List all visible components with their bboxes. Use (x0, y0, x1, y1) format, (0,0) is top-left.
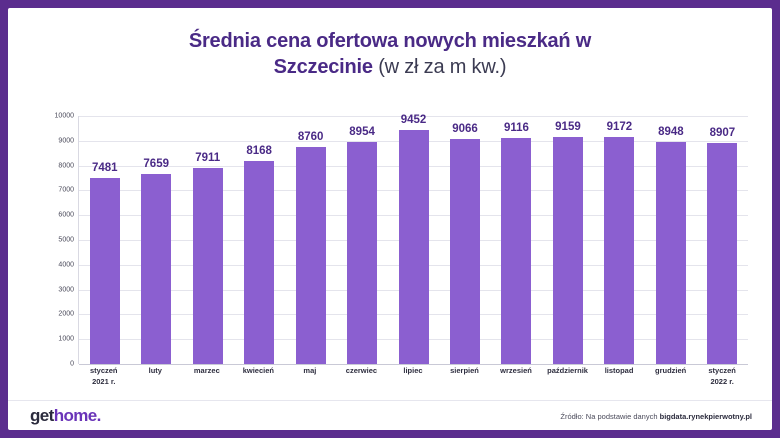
x-tick-label: maj (284, 366, 336, 388)
brand-dot: . (97, 406, 101, 425)
y-tick-9000: 9000 (38, 137, 74, 144)
bar-value-label: 9116 (491, 122, 542, 134)
y-tick-3000: 3000 (38, 286, 74, 293)
bar-slot: 7911 (182, 116, 233, 364)
bar-value-label: 9066 (439, 123, 490, 135)
source-note: Źródło: Na podstawie danych bigdata.ryne… (560, 412, 752, 421)
bar (193, 168, 223, 364)
bar-value-label: 8954 (336, 126, 387, 138)
brand-home: home (54, 406, 97, 425)
bar (244, 161, 274, 364)
bar (553, 137, 583, 364)
y-tick-7000: 7000 (38, 187, 74, 194)
y-tick-2000: 2000 (38, 311, 74, 318)
grid-area: 7481765979118168876089549452906691169159… (78, 116, 748, 364)
bar-slot: 8907 (697, 116, 748, 364)
brand-get: get (30, 406, 54, 425)
bar-slot: 8954 (336, 116, 387, 364)
bar-value-label: 7481 (79, 162, 130, 174)
gridline-0 (79, 364, 748, 365)
bar (450, 139, 480, 364)
footer-divider (8, 400, 772, 401)
bar-slot: 9066 (439, 116, 490, 364)
brand-logo: gethome. (30, 406, 101, 426)
y-tick-4000: 4000 (38, 261, 74, 268)
bar (90, 178, 120, 364)
bar-slot: 9172 (594, 116, 645, 364)
bar-slot: 9452 (388, 116, 439, 364)
bar (656, 142, 686, 364)
bar-value-label: 8907 (697, 127, 748, 139)
x-axis-tick-labels: styczeń2021 r.lutymarzeckwiecieńmajczerw… (78, 366, 748, 388)
bar-series: 7481765979118168876089549452906691169159… (79, 116, 748, 364)
bar-value-label: 8168 (233, 145, 284, 157)
source-name: bigdata.rynekpierwotny.pl (660, 412, 752, 421)
x-tick-label: grudzień (645, 366, 697, 388)
bar-slot: 7659 (130, 116, 181, 364)
y-tick-10000: 10000 (38, 113, 74, 120)
bar-slot: 8168 (233, 116, 284, 364)
bar-slot: 9159 (542, 116, 593, 364)
plot-area: 0100020003000400050006000700080009000100… (38, 116, 748, 364)
y-tick-8000: 8000 (38, 162, 74, 169)
chart-title-city: Szczecinie (274, 56, 373, 78)
bar-value-label: 8948 (645, 126, 696, 138)
y-tick-5000: 5000 (38, 237, 74, 244)
y-tick-0: 0 (38, 361, 74, 368)
chart-title-unit: (w zł za m kw.) (373, 56, 506, 78)
x-tick-label: październik (542, 366, 594, 388)
bar (347, 142, 377, 364)
x-tick-label: marzec (181, 366, 233, 388)
bar (296, 147, 326, 364)
chart-card: Średnia cena ofertowa nowych mieszkań w … (8, 8, 772, 430)
x-tick-label: wrzesień (490, 366, 542, 388)
y-tick-6000: 6000 (38, 212, 74, 219)
bar-value-label: 9452 (388, 114, 439, 126)
bar (501, 138, 531, 364)
chart-title: Średnia cena ofertowa nowych mieszkań w … (8, 28, 772, 81)
source-prefix: Źródło: Na podstawie danych (560, 412, 659, 421)
bar (707, 143, 737, 364)
x-tick-label: styczeń2021 r. (78, 366, 130, 388)
screenshot-root: Średnia cena ofertowa nowych mieszkań w … (0, 0, 780, 438)
bar-value-label: 9159 (542, 121, 593, 133)
x-tick-label: luty (130, 366, 182, 388)
x-tick-label: sierpień (439, 366, 491, 388)
bar-value-label: 9172 (594, 121, 645, 133)
bar-slot: 8948 (645, 116, 696, 364)
x-tick-label: styczeń2022 r. (696, 366, 748, 388)
bar-value-label: 7911 (182, 152, 233, 164)
x-tick-label: kwiecień (233, 366, 285, 388)
x-tick-label: lipiec (387, 366, 439, 388)
x-tick-label: czerwiec (336, 366, 388, 388)
bar (604, 137, 634, 364)
bar (141, 174, 171, 364)
x-tick-label: listopad (593, 366, 645, 388)
bar-value-label: 7659 (130, 158, 181, 170)
bar-slot: 7481 (79, 116, 130, 364)
bar (399, 130, 429, 364)
chart-title-line-1: Średnia cena ofertowa nowych mieszkań w (8, 28, 772, 54)
y-axis-tick-labels: 0100020003000400050006000700080009000100… (38, 116, 74, 364)
bar-slot: 9116 (491, 116, 542, 364)
y-tick-1000: 1000 (38, 336, 74, 343)
bar-slot: 8760 (285, 116, 336, 364)
bar-value-label: 8760 (285, 131, 336, 143)
chart-title-line-2: Szczecinie (w zł za m kw.) (8, 54, 772, 80)
